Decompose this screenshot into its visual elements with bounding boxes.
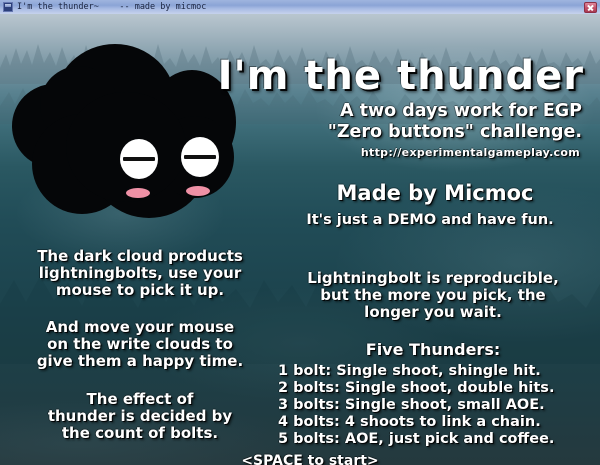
cloud-left-blush-icon: [126, 188, 150, 198]
cloud-left-eye-icon: [120, 139, 158, 179]
thunder-list-item: 2 bolts: Single shoot, double hits.: [278, 380, 598, 397]
instruction-paragraph-1: The dark cloud products lightningbolts, …: [14, 248, 266, 298]
game-canvas[interactable]: I'm the thunder A two days work for EGP …: [0, 14, 600, 465]
author-credit: Made by Micmoc: [280, 182, 590, 206]
window-app-icon: [3, 2, 13, 12]
thunder-list: 1 bolt: Single shoot, shingle hit. 2 bol…: [278, 363, 598, 448]
thunder-list-item: 4 bolts: 4 shoots to link a chain.: [278, 414, 598, 431]
five-thunders-heading: Five Thunders:: [272, 341, 594, 359]
cloud-right-eye-icon: [181, 137, 219, 177]
thunder-list-item: 1 bolt: Single shoot, shingle hit.: [278, 363, 598, 380]
close-icon[interactable]: [584, 2, 597, 13]
lightningbolt-info-paragraph: Lightningbolt is reproducible, but the m…: [272, 270, 594, 320]
window-titlebar[interactable]: I'm the thunder~ -- made by micmoc: [0, 0, 600, 14]
start-prompt[interactable]: <SPACE to start>: [180, 454, 440, 465]
instruction-paragraph-3: The effect of thunder is decided by the …: [14, 391, 266, 441]
game-subtitle: A two days work for EGP "Zero buttons" c…: [250, 101, 590, 142]
window-title-text: I'm the thunder~ -- made by micmoc: [17, 0, 206, 14]
thunder-list-item: 5 bolts: AOE, just pick and coffee.: [278, 431, 598, 448]
thunder-list-item: 3 bolts: Single shoot, small AOE.: [278, 397, 598, 414]
demo-note: It's just a DEMO and have fun.: [270, 212, 590, 228]
website-url[interactable]: http://experimentalgameplay.com: [250, 147, 590, 159]
instruction-paragraph-2: And move your mouse on the write clouds …: [14, 319, 266, 369]
game-window: I'm the thunder~ -- made by micmoc: [0, 0, 600, 465]
cloud-right-blush-icon: [186, 186, 210, 196]
game-title: I'm the thunder: [180, 54, 590, 99]
